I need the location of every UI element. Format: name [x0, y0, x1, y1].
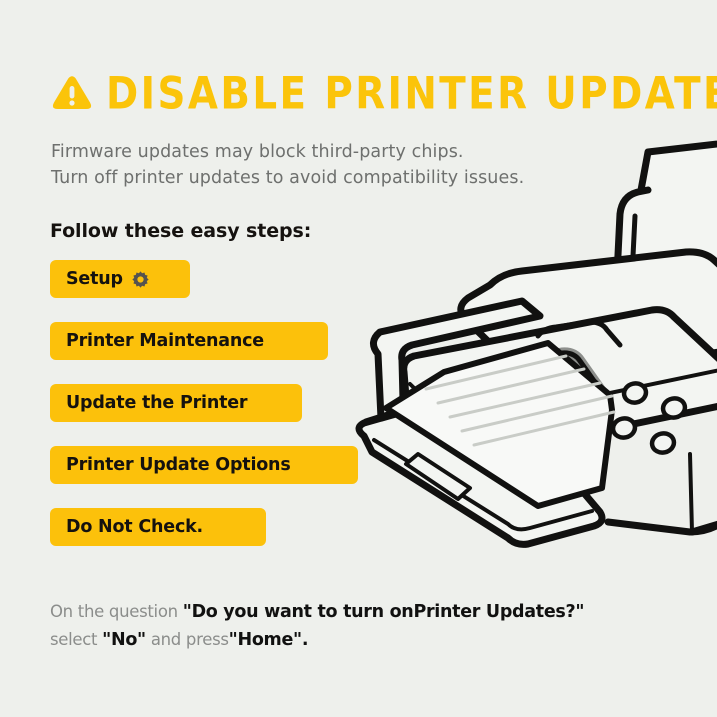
lid-handle-notch — [538, 322, 620, 345]
panel-button-2 — [661, 396, 686, 419]
printed-paper-sheet — [386, 343, 614, 580]
footnote-text: On the question — [50, 602, 183, 621]
gear-icon — [132, 271, 149, 288]
subtitle: Firmware updates may block third-party c… — [51, 139, 611, 191]
panel-button-4 — [650, 431, 675, 454]
control-panel-display — [489, 353, 606, 424]
printer-lower-body — [690, 401, 717, 532]
footnote-text: select — [50, 630, 102, 649]
page-title: DISABLE PRINTER UPDATES — [106, 72, 717, 117]
inkjet-printer-illustration — [352, 140, 717, 580]
printer-body-front — [373, 301, 717, 461]
step-button-printer-update-options[interactable]: Printer Update Options — [50, 446, 358, 484]
title-row: DISABLE PRINTER UPDATES — [52, 66, 717, 122]
step-button-setup[interactable]: Setup — [50, 260, 190, 298]
printer-base-right — [608, 496, 717, 532]
footnote-emphasis: "Do you want to turn onPrinter Updates?" — [183, 602, 584, 622]
panel-button-3 — [611, 416, 636, 439]
steps-heading: Follow these easy steps: — [50, 219, 311, 243]
output-tray — [359, 402, 602, 544]
subtitle-line-1: Firmware updates may block third-party c… — [51, 139, 611, 165]
paper-print-lines — [426, 356, 614, 445]
warning-triangle-icon — [52, 75, 92, 113]
step-button-label: Printer Update Options — [66, 455, 291, 475]
step-button-update-the-printer[interactable]: Update the Printer — [50, 384, 302, 422]
subtitle-line-2: Turn off printer updates to avoid compat… — [51, 165, 611, 191]
paper-feed-tray — [614, 140, 717, 337]
step-button-label: Setup — [66, 269, 123, 289]
panel-button-1 — [622, 381, 647, 404]
footnote-emphasis: "No" — [102, 630, 146, 650]
printer-top-lid — [461, 252, 717, 381]
control-panel-buttons — [611, 381, 686, 454]
footnote: On the question "Do you want to turn onP… — [50, 598, 670, 654]
footnote-line-1: On the question "Do you want to turn onP… — [50, 598, 670, 626]
poster-canvas: DISABLE PRINTER UPDATES Firmware updates… — [0, 0, 717, 717]
footnote-line-2: select "No" and press"Home". — [50, 626, 670, 654]
step-button-do-not-check[interactable]: Do Not Check. — [50, 508, 266, 546]
step-button-printer-maintenance[interactable]: Printer Maintenance — [50, 322, 328, 360]
step-button-label: Do Not Check. — [66, 517, 203, 537]
footnote-emphasis: "Home". — [229, 630, 309, 650]
step-button-label: Printer Maintenance — [66, 331, 264, 351]
footnote-text: and press — [146, 630, 229, 649]
step-button-label: Update the Printer — [66, 393, 247, 413]
